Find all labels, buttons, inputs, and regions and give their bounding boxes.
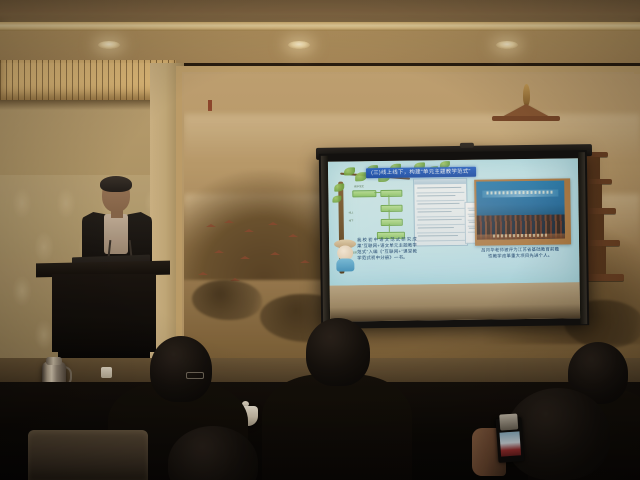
audience-member-center-head (306, 318, 370, 386)
group-photo-frame (474, 178, 571, 245)
flow-connector-4 (389, 224, 390, 232)
flow-box-4 (381, 219, 403, 226)
doc-row-4 (417, 216, 465, 217)
flow-connector-3 (389, 210, 390, 219)
doc-line-5 (418, 219, 462, 221)
slide-text-right: 吕月华老师被评为江苏省基础教育前瞻性教学改革重大项目先进个人。 (479, 247, 561, 260)
conference-photo-scene: (三)线上线下，构建"单元主题教学范式" 教学范式 线上 (0, 0, 640, 480)
village-house-4 (268, 222, 278, 225)
doc-row-3 (417, 208, 465, 209)
doc-line-6 (418, 227, 454, 229)
banquet-chair[interactable] (28, 430, 148, 480)
village-house-5 (288, 234, 298, 237)
small-cup (101, 367, 112, 378)
doc-row-7 (417, 240, 465, 241)
eyeglasses-icon (186, 372, 204, 379)
village-house-9 (300, 260, 310, 263)
village-house-8 (270, 252, 280, 255)
smartphone[interactable] (495, 417, 524, 463)
downlight-1-icon (98, 41, 120, 49)
flow-box-1 (352, 190, 376, 197)
podium-body (52, 274, 156, 352)
mascot-illustration (332, 237, 358, 271)
ceiling-lower-soffit (0, 31, 640, 63)
flow-box-2 (380, 190, 402, 197)
podium-base (58, 344, 150, 358)
doc-line-2 (417, 195, 455, 197)
doc-row-1 (416, 192, 464, 193)
audience-member-center-body (262, 374, 412, 480)
slide-text-left: 我校初中语文范式研究成果"互联网+语文单元主题教学范式"入编《"互联网+"课堂教… (357, 237, 417, 262)
group-photo (476, 180, 565, 239)
village-house-10 (198, 272, 208, 275)
doc-line-1 (417, 187, 461, 189)
phone-screen (499, 431, 521, 456)
thermos-lid (46, 357, 62, 365)
presenter-hair (100, 176, 132, 192)
doc-line-7 (418, 235, 458, 237)
presentation-slide: (三)线上线下，构建"单元主题教学范式" 教学范式 线上 (328, 158, 580, 285)
document-header-bar (414, 179, 466, 185)
flow-connector-2 (388, 195, 389, 205)
artist-seal-icon (208, 100, 212, 111)
village-house-3 (244, 229, 254, 232)
pagoda-finial-icon (523, 84, 530, 106)
flow-box-3 (381, 205, 403, 212)
mascot-body (336, 258, 354, 271)
downlight-2-icon (288, 41, 310, 49)
screen-case-knob (459, 143, 473, 148)
village-house-2 (224, 220, 234, 223)
phone-camera-icon (499, 413, 518, 430)
flow-diagram: 教学范式 线上 线下 单元主题 (328, 158, 578, 161)
pagoda-eave (492, 116, 560, 121)
downlight-3-icon (496, 41, 518, 49)
screen-surface: (三)线上线下，构建"单元主题教学范式" 教学范式 线上 (328, 158, 580, 321)
screen-frame: (三)线上线下，构建"单元主题教学范式" 教学范式 线上 (319, 150, 589, 329)
cove-light-strip (0, 22, 640, 31)
audience-member-left-head (150, 336, 212, 402)
village-house-6 (214, 250, 224, 253)
doc-row-2 (416, 200, 464, 201)
projection-screen[interactable]: (三)线上线下，构建"单元主题教学范式" 教学范式 线上 (320, 152, 588, 327)
doc-line-4 (418, 211, 452, 212)
doc-row-5 (417, 224, 465, 225)
mural-foliage-1 (192, 280, 262, 320)
document-screenshot (413, 178, 468, 247)
screen-blank-area (330, 282, 580, 321)
doc-row-6 (417, 232, 465, 233)
flow-label-0: 教学范式 (354, 185, 364, 188)
flow-connector-1 (374, 192, 380, 193)
slide-title: (三)线上线下，构建"单元主题教学范式" (366, 167, 476, 179)
village-house-7 (240, 256, 250, 259)
flow-label-2: 线下 (349, 219, 354, 222)
doc-line-3 (417, 203, 459, 205)
village-house-1 (206, 224, 216, 227)
flow-label-1: 线上 (349, 211, 354, 214)
